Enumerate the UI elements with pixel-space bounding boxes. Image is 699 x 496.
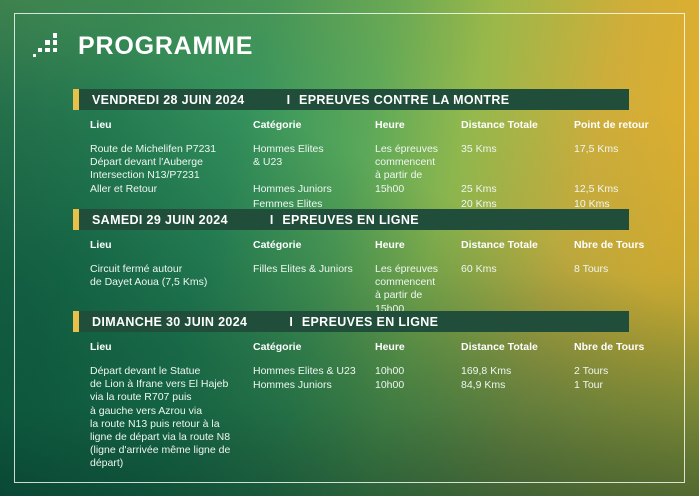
section-date: DIMANCHE 30 JUIN 2024 [92,315,247,329]
dot-grid-icon [33,33,59,59]
section-event-type: EPREUVES EN LIGNE [302,315,439,329]
column-header-lieu: Lieu [90,119,255,132]
column-header-heure: Heure [375,119,461,132]
cell-lieu: Circuit fermé autour de Dayet Aoua (7,5 … [90,263,255,289]
column-header-heure: Heure [375,239,461,252]
section-event-type: EPREUVES EN LIGNE [282,213,419,227]
cell-point-retour: 17,5 Kms [574,143,664,156]
cell-categorie: Hommes Elites & U23 [253,365,375,378]
column-header-lieu: Lieu [90,341,255,354]
section-separator: I [247,315,301,329]
column-header-lieu: Lieu [90,239,255,252]
column-header-heure: Heure [375,341,461,354]
column-header-nbre-tours: Nbre de Tours [574,239,664,252]
cell-heure: 10h00 [375,365,461,378]
column-header-categorie: Catégorie [253,119,375,132]
day-section-samedi: SAMEDI 29 JUIN 2024 I EPREUVES EN LIGNE … [73,209,629,321]
column-header-distance: Distance Totale [461,239,573,252]
cell-distance: 84,9 Kms [461,379,573,392]
cell-distance: 60 Kms [461,263,573,276]
cell-categorie: Hommes Elites & U23 [253,143,375,169]
section-separator: I [245,93,299,107]
table-body: Départ devant le Statue de Lion à Ifrane… [90,365,629,475]
column-header-categorie: Catégorie [253,239,375,252]
cell-lieu: Départ devant le Statue de Lion à Ifrane… [90,365,255,471]
cell-lieu: Route de Michelifen P7231 Départ devant … [90,143,255,196]
section-date: SAMEDI 29 JUIN 2024 [92,213,228,227]
section-separator: I [228,213,282,227]
column-header-distance: Distance Totale [461,341,573,354]
cell-nbre-tours: 8 Tours [574,263,664,276]
table-header-row: Lieu Catégorie Heure Distance Totale Nbr… [90,239,629,254]
day-section-vendredi: VENDREDI 28 JUIN 2024 I EPREUVES CONTRE … [73,89,629,226]
cell-nbre-tours: 1 Tour [574,379,664,392]
cell-categorie: Hommes Juniors [253,379,375,392]
cell-categorie: Hommes Juniors [253,183,375,196]
section-event-type: EPREUVES CONTRE LA MONTRE [299,93,509,107]
cell-point-retour: 12,5 Kms [574,183,664,196]
cell-heure: Les épreuves commencent à partir de 15h0… [375,263,461,316]
section-header-vendredi: VENDREDI 28 JUIN 2024 I EPREUVES CONTRE … [73,89,629,110]
table-header-row: Lieu Catégorie Heure Distance Totale Nbr… [90,341,629,356]
page-title: PROGRAMME [78,34,253,59]
schedule-table-samedi: Lieu Catégorie Heure Distance Totale Nbr… [73,230,629,321]
cell-nbre-tours: 2 Tours [574,365,664,378]
column-header-distance: Distance Totale [461,119,573,132]
column-header-categorie: Catégorie [253,341,375,354]
section-date: VENDREDI 28 JUIN 2024 [92,93,245,107]
poster-title-row: PROGRAMME [33,33,253,59]
cell-heure: 10h00 [375,379,461,392]
schedule-table-dimanche: Lieu Catégorie Heure Distance Totale Nbr… [73,332,629,475]
programme-poster: PROGRAMME VENDREDI 28 JUIN 2024 I EPREUV… [0,0,699,496]
day-section-dimanche: DIMANCHE 30 JUIN 2024 I EPREUVES EN LIGN… [73,311,629,475]
cell-categorie: Filles Elites & Juniors [253,263,375,276]
table-header-row: Lieu Catégorie Heure Distance Totale Poi… [90,119,629,134]
column-header-point-retour: Point de retour [574,119,664,132]
cell-distance: 25 Kms [461,183,573,196]
section-header-dimanche: DIMANCHE 30 JUIN 2024 I EPREUVES EN LIGN… [73,311,629,332]
cell-distance: 169,8 Kms [461,365,573,378]
column-header-nbre-tours: Nbre de Tours [574,341,664,354]
cell-distance: 35 Kms [461,143,573,156]
cell-heure: Les épreuves commencent à partir de 15h0… [375,143,461,196]
section-header-samedi: SAMEDI 29 JUIN 2024 I EPREUVES EN LIGNE [73,209,629,230]
